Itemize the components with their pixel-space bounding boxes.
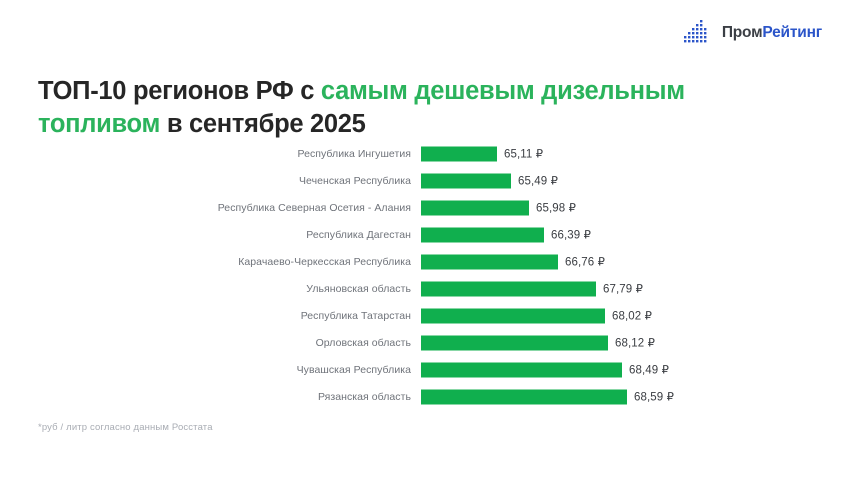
bar-wrapper: 68,59 ₽ [421, 389, 674, 404]
bar [421, 335, 608, 350]
bar-wrapper: 65,49 ₽ [421, 173, 558, 188]
brand-name-reyting: Рейтинг [762, 24, 822, 41]
bar-value-label: 66,76 ₽ [565, 255, 605, 269]
bar-category-label: Карачаево-Черкесская Республика [0, 256, 411, 268]
bar-category-label: Рязанская область [0, 391, 411, 403]
bar-value-label: 68,02 ₽ [612, 309, 652, 323]
bar [421, 227, 544, 242]
bar [421, 362, 622, 377]
bar-wrapper: 65,98 ₽ [421, 200, 576, 215]
bar-value-label: 67,79 ₽ [603, 282, 643, 296]
bar-value-label: 68,59 ₽ [634, 390, 674, 404]
bar-row: Рязанская область68,59 ₽ [0, 383, 850, 410]
bar-category-label: Чеченская Республика [0, 175, 411, 187]
bar-row: Республика Северная Осетия - Алания65,98… [0, 194, 850, 221]
bar-wrapper: 68,49 ₽ [421, 362, 669, 377]
bar-wrapper: 67,79 ₽ [421, 281, 643, 296]
bar [421, 146, 497, 161]
brand-name-prom: Пром [722, 24, 763, 41]
bar-row: Республика Татарстан68,02 ₽ [0, 302, 850, 329]
bar-wrapper: 68,12 ₽ [421, 335, 655, 350]
bar-wrapper: 66,39 ₽ [421, 227, 591, 242]
bar-value-label: 68,12 ₽ [615, 336, 655, 350]
bar [421, 389, 627, 404]
dot-matrix-bars-icon [684, 19, 714, 48]
bar-wrapper: 66,76 ₽ [421, 254, 605, 269]
bar-value-label: 65,11 ₽ [504, 147, 543, 161]
brand-name: ПромРейтинг [722, 25, 822, 41]
bar-value-label: 66,39 ₽ [551, 228, 591, 242]
bar-category-label: Республика Северная Осетия - Алания [0, 202, 411, 214]
bar-category-label: Республика Дагестан [0, 229, 411, 241]
bar-category-label: Республика Татарстан [0, 310, 411, 322]
bar-wrapper: 68,02 ₽ [421, 308, 652, 323]
bar-value-label: 65,98 ₽ [536, 201, 576, 215]
bar-row: Карачаево-Черкесская Республика66,76 ₽ [0, 248, 850, 275]
horizontal-bar-chart: Республика Ингушетия65,11 ₽Чеченская Рес… [0, 140, 850, 410]
bar-row: Орловская область68,12 ₽ [0, 329, 850, 356]
bar [421, 281, 596, 296]
bar [421, 308, 605, 323]
bar-category-label: Республика Ингушетия [0, 148, 411, 160]
bar-row: Ульяновская область67,79 ₽ [0, 275, 850, 302]
bar-row: Республика Дагестан66,39 ₽ [0, 221, 850, 248]
bar [421, 173, 511, 188]
bar-category-label: Чувашская Республика [0, 364, 411, 376]
bar [421, 200, 529, 215]
title-segment-2: в сентябре 2025 [160, 110, 366, 138]
infographic-canvas: ПромРейтинг ТОП-10 регионов РФ с самым д… [0, 0, 850, 477]
bar-value-label: 65,49 ₽ [518, 174, 558, 188]
chart-footnote: *руб / литр согласно данным Росстата [38, 422, 213, 433]
bar-row: Чеченская Республика65,49 ₽ [0, 167, 850, 194]
bar-row: Республика Ингушетия65,11 ₽ [0, 140, 850, 167]
bar-row: Чувашская Республика68,49 ₽ [0, 356, 850, 383]
bar-category-label: Ульяновская область [0, 283, 411, 295]
bar-category-label: Орловская область [0, 337, 411, 349]
brand-logo: ПромРейтинг [684, 18, 822, 48]
title-segment-1: ТОП-10 регионов РФ с [38, 77, 321, 105]
bar [421, 254, 558, 269]
bar-wrapper: 65,11 ₽ [421, 146, 543, 161]
bar-value-label: 68,49 ₽ [629, 363, 669, 377]
page-title: ТОП-10 регионов РФ с самым дешевым дизел… [38, 75, 808, 141]
